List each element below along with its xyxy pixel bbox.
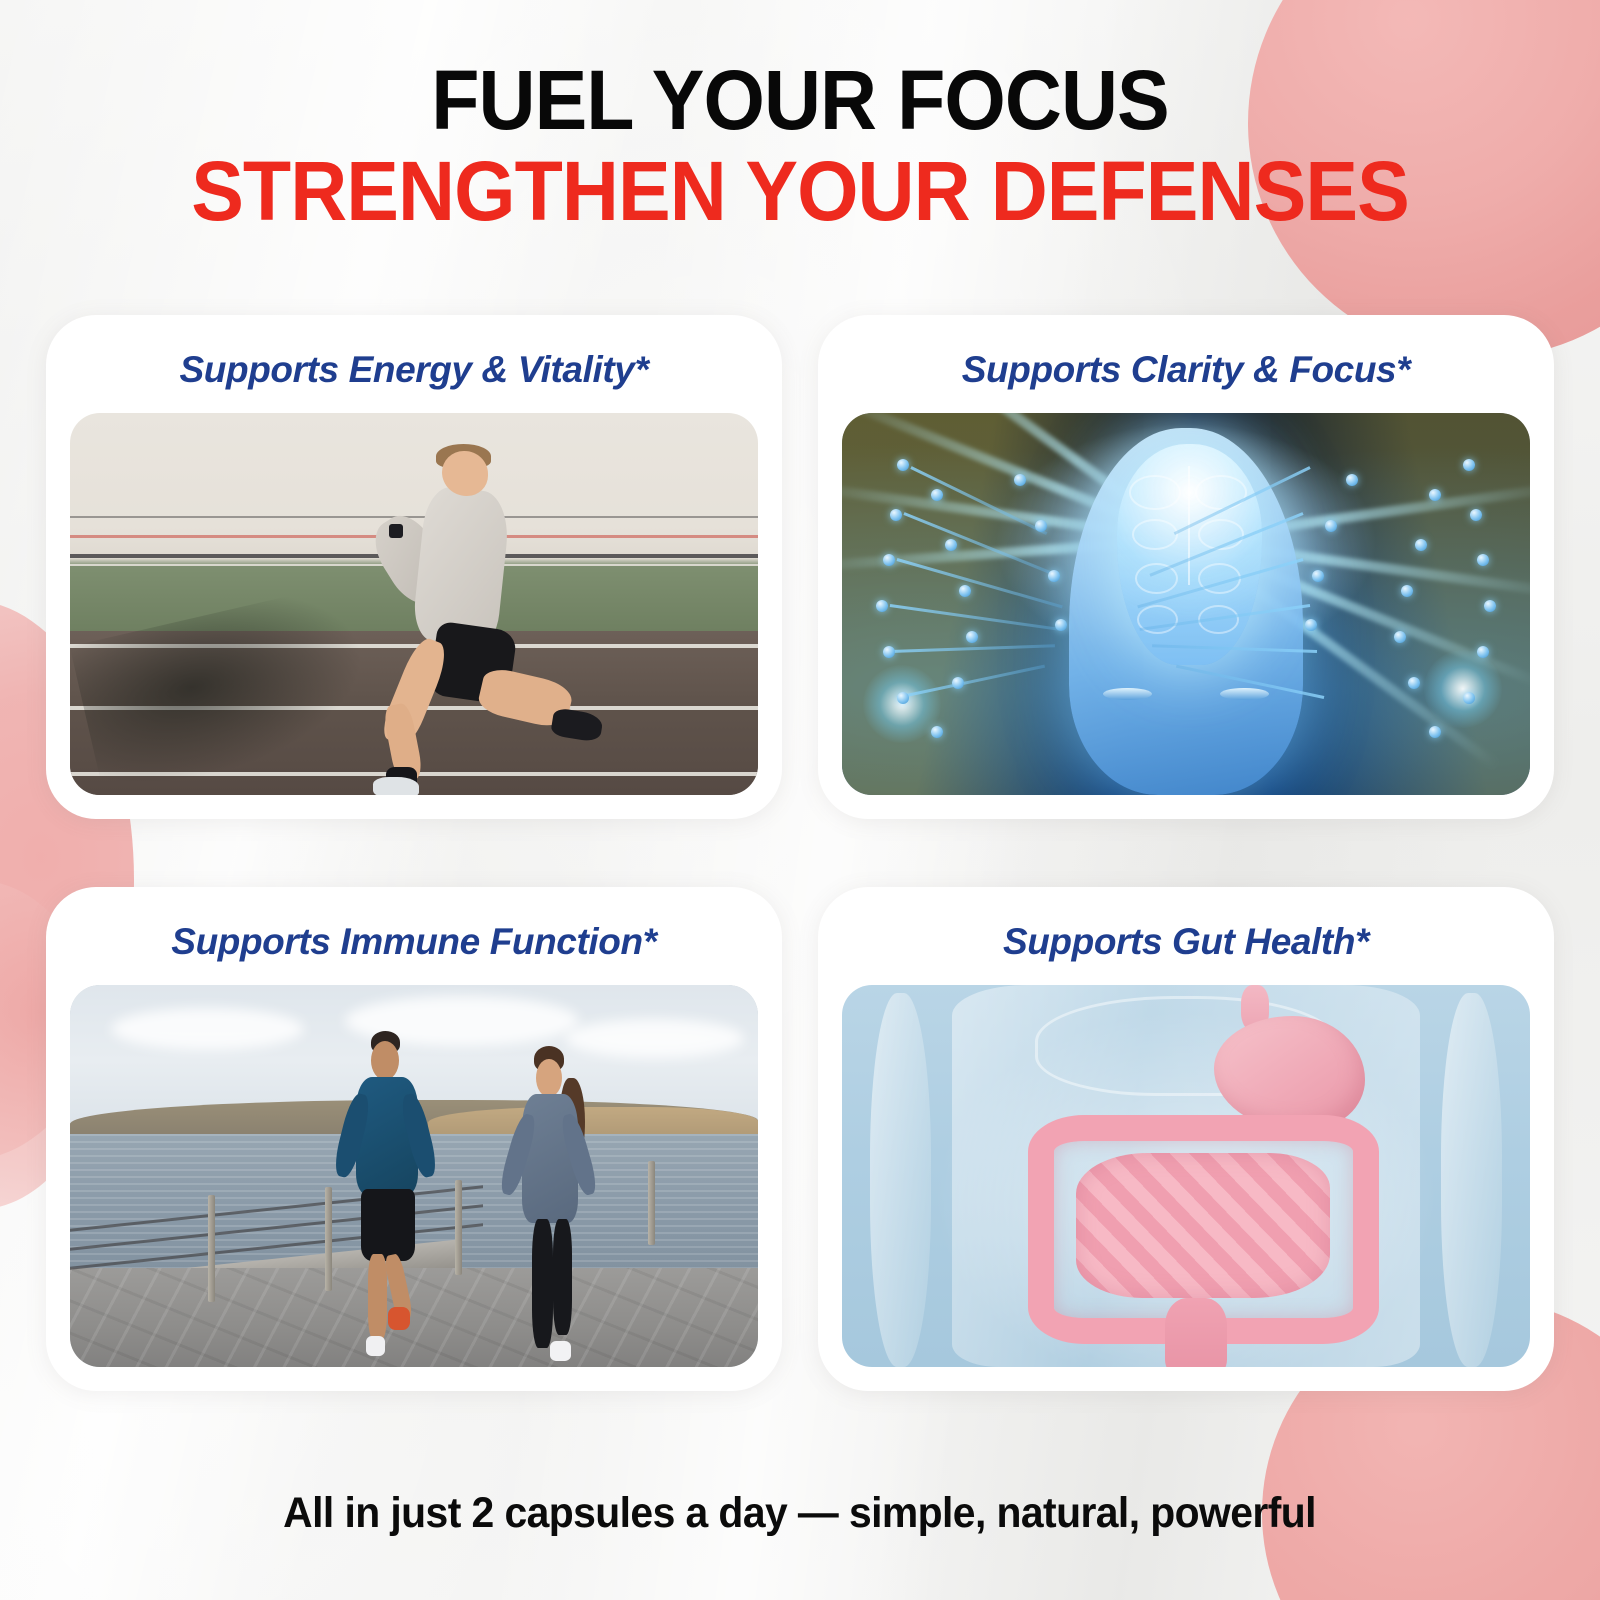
card-title-gut: Supports Gut Health*: [1003, 921, 1369, 963]
arm-right: [1441, 993, 1503, 1367]
card-title-immune: Supports Immune Function*: [171, 921, 656, 963]
card-title-clarity: Supports Clarity & Focus*: [962, 349, 1410, 391]
headline-line-1: FUEL YOUR FOCUS: [48, 58, 1552, 144]
runner-stretching-on-track-photo: [70, 413, 758, 795]
card-title-energy: Supports Energy & Vitality*: [180, 349, 649, 391]
arm-left: [870, 993, 932, 1367]
jogger-female: [503, 1046, 620, 1367]
jogger-male: [338, 1031, 462, 1360]
couple-jogging-by-lake-photo: [70, 985, 758, 1367]
rectum: [1165, 1298, 1227, 1367]
benefit-card-gut: Supports Gut Health*: [818, 887, 1554, 1391]
benefit-card-energy: Supports Energy & Vitality*: [46, 315, 782, 819]
headline: FUEL YOUR FOCUS STRENGTHEN YOUR DEFENSES: [0, 58, 1600, 238]
benefit-card-immune: Supports Immune Function*: [46, 887, 782, 1391]
headline-line-2: STRENGTHEN YOUR DEFENSES: [48, 144, 1552, 238]
benefit-card-grid: Supports Energy & Vitality*: [46, 315, 1554, 1391]
digestive-system-illustration: [842, 985, 1530, 1367]
eye-right: [1220, 688, 1268, 700]
footer-tagline-text: All in just 2 capsules a day — simple, n…: [284, 1489, 1317, 1538]
promo-poster: FUEL YOUR FOCUS STRENGTHEN YOUR DEFENSES…: [0, 0, 1600, 1600]
runner-figure: [359, 444, 634, 795]
benefit-card-clarity: Supports Clarity & Focus*: [818, 315, 1554, 819]
brain-glow: [1117, 444, 1261, 666]
glowing-brain-dna-illustration: [842, 413, 1530, 795]
eye-left: [1103, 688, 1151, 700]
footer-tagline: All in just 2 capsules a day — simple, n…: [0, 1489, 1600, 1538]
small-intestine: [1076, 1153, 1331, 1298]
